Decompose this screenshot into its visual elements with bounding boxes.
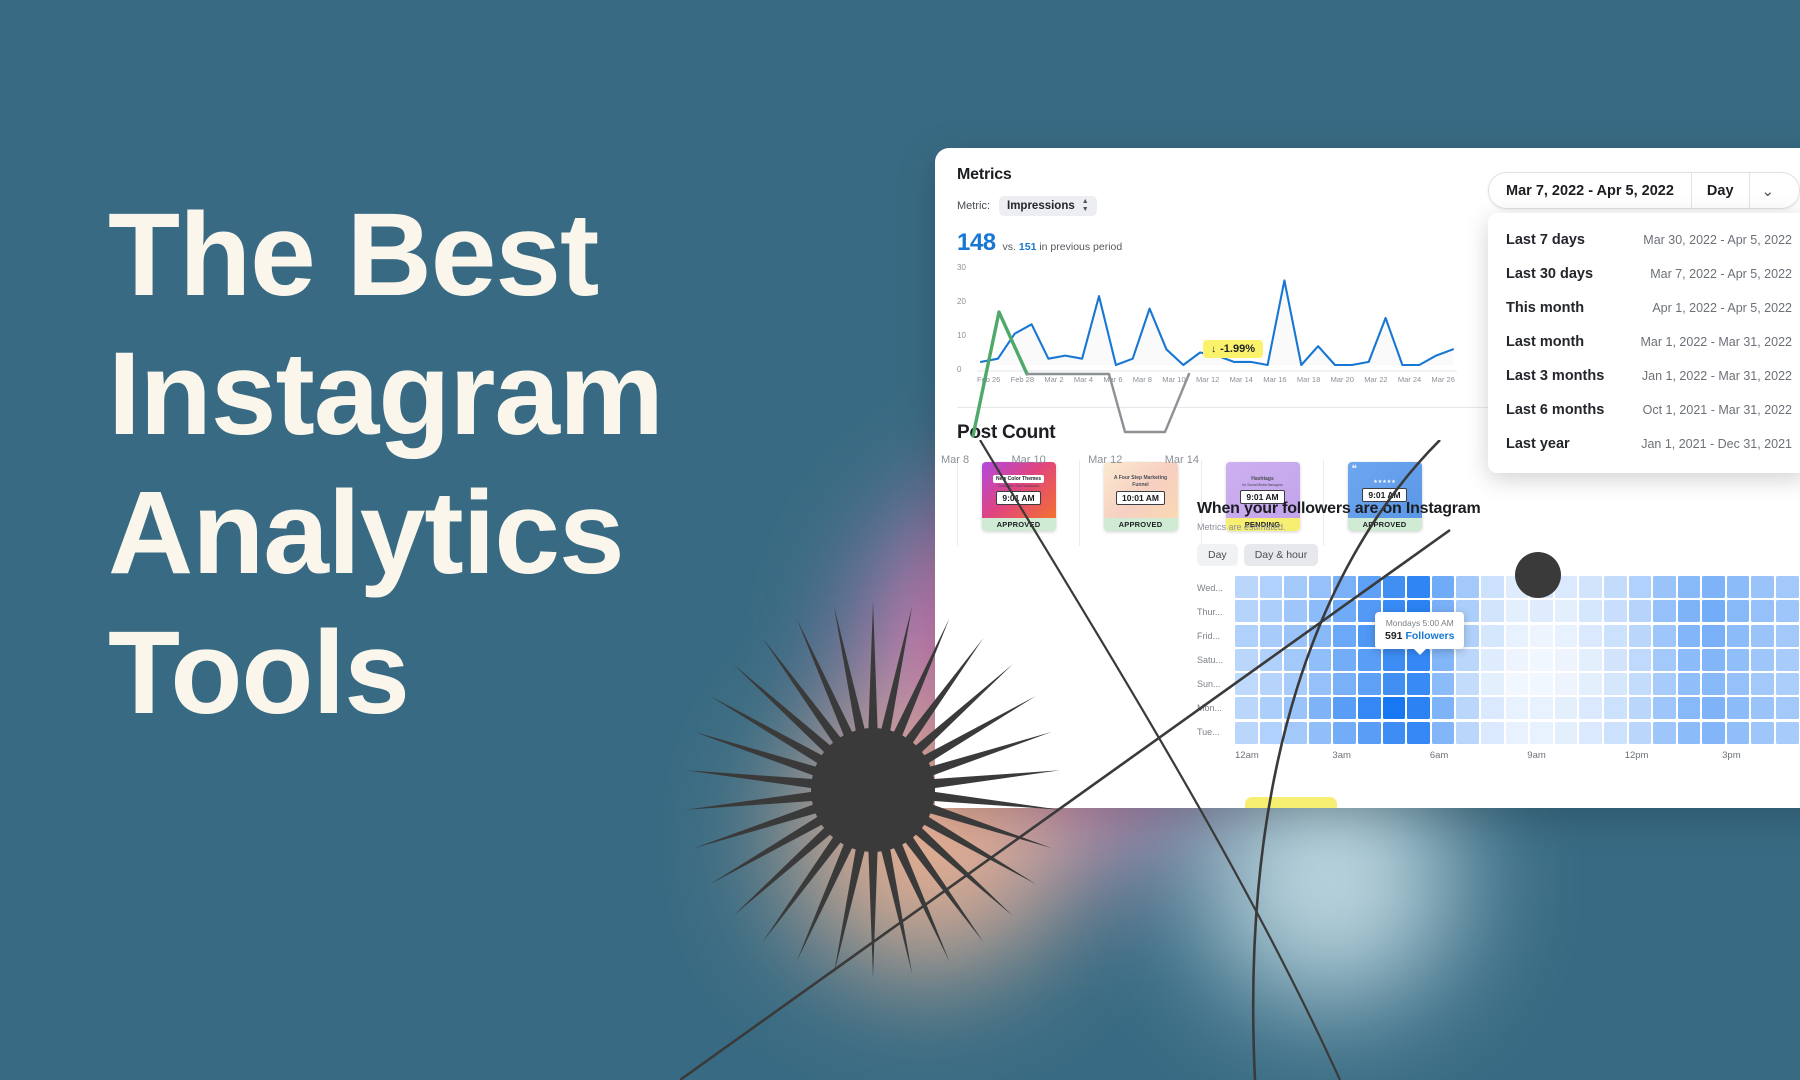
heatmap-cell[interactable]: [1333, 722, 1356, 744]
heatmap-cell[interactable]: [1407, 576, 1430, 598]
heatmap-cell[interactable]: [1506, 649, 1529, 671]
yellow-action-button[interactable]: [1245, 797, 1337, 808]
date-range-option-range: Mar 1, 2022 - Mar 31, 2022: [1641, 335, 1792, 349]
heatmap-cell[interactable]: [1235, 649, 1258, 671]
heatmap-cell[interactable]: [1702, 649, 1725, 671]
date-range-option[interactable]: Last 3 monthsJan 1, 2022 - Mar 31, 2022: [1488, 359, 1800, 393]
heatmap-cell[interactable]: [1751, 673, 1774, 695]
date-range-option-range: Mar 7, 2022 - Apr 5, 2022: [1650, 267, 1792, 281]
compare-value: 151: [1019, 241, 1037, 253]
starburst-spike: [927, 732, 1052, 777]
heatmap-cell[interactable]: [1604, 576, 1627, 598]
heatmap-cell[interactable]: [1333, 649, 1356, 671]
starburst-spike: [686, 770, 816, 788]
heatmap-cell[interactable]: [1235, 722, 1258, 744]
date-range-option-label: This month: [1506, 300, 1584, 316]
heatmap-cell[interactable]: [1678, 625, 1701, 647]
heatmap-cell[interactable]: [1776, 600, 1799, 622]
heatmap-cell[interactable]: [1432, 722, 1455, 744]
headline-line-1: The Best: [108, 186, 808, 325]
heatmap-cell[interactable]: [1235, 697, 1258, 719]
post-count-line-chart: 2 1 0 Mar 8Mar 10Mar 12Mar 14: [935, 304, 1213, 494]
date-range-option-range: Mar 30, 2022 - Apr 5, 2022: [1643, 233, 1792, 247]
heatmap-cell[interactable]: [1309, 625, 1332, 647]
post-count-x-axis: Mar 8Mar 10Mar 12Mar 14: [941, 454, 1199, 466]
starburst-spike: [930, 791, 1060, 809]
tooltip-count: 591: [1385, 630, 1403, 642]
heatmap-cell[interactable]: [1506, 625, 1529, 647]
metric-delta-value: -1.99%: [1220, 343, 1255, 355]
impressions-x-tick: Mar 26: [1432, 375, 1455, 384]
heatmap-cell[interactable]: [1653, 697, 1676, 719]
heatmap-cell[interactable]: [1456, 673, 1479, 695]
heatmap-cell[interactable]: [1727, 625, 1750, 647]
heatmap-cell[interactable]: [1456, 697, 1479, 719]
heatmap-cell[interactable]: [1432, 673, 1455, 695]
heatmap-cell[interactable]: [1555, 649, 1578, 671]
heatmap-cell[interactable]: [1432, 697, 1455, 719]
dark-circle-decoration: [1515, 552, 1561, 598]
heatmap-cell[interactable]: [1481, 576, 1504, 598]
impressions-x-tick: Mar 22: [1364, 375, 1387, 384]
heatmap-cell[interactable]: [1530, 600, 1553, 622]
post-count-x-tick: Mar 8: [941, 454, 969, 466]
quote-icon: ❝: [1352, 464, 1357, 475]
heatmap-cell[interactable]: [1309, 673, 1332, 695]
heatmap-cell[interactable]: [1333, 576, 1356, 598]
tooltip-value: 591 Followers: [1385, 630, 1454, 642]
starburst-spike: [694, 803, 819, 848]
date-range-option[interactable]: Last monthMar 1, 2022 - Mar 31, 2022: [1488, 325, 1800, 359]
heatmap-cell[interactable]: [1506, 722, 1529, 744]
heatmap-row-label: Mon...: [1197, 696, 1235, 720]
heatmap-cell[interactable]: [1653, 649, 1676, 671]
date-range-option-label: Last 6 months: [1506, 402, 1604, 418]
tooltip-unit: Followers: [1405, 630, 1454, 642]
heatmap-cell[interactable]: [1383, 576, 1406, 598]
heatmap-cell[interactable]: [1579, 600, 1602, 622]
heatmap-cell[interactable]: [1284, 722, 1307, 744]
heatmap-cell[interactable]: [1751, 625, 1774, 647]
heatmap-cell[interactable]: [1358, 649, 1381, 671]
heatmap-cell[interactable]: [1235, 576, 1258, 598]
heatmap-cell[interactable]: [1309, 649, 1332, 671]
post-heading: Hashtags: [1251, 476, 1274, 483]
heatmap-cell[interactable]: [1333, 625, 1356, 647]
heatmap: Wed...Thur...Frid...Satu...Sun...Mon...T…: [1197, 576, 1800, 744]
heatmap-x-tick: 3am: [1332, 750, 1429, 761]
heatmap-cell[interactable]: [1260, 625, 1283, 647]
heatmap-row-label: Frid...: [1197, 624, 1235, 648]
date-range-option[interactable]: This monthApr 1, 2022 - Apr 5, 2022: [1488, 291, 1800, 325]
post-count-x-tick: Mar 12: [1088, 454, 1122, 466]
heatmap-cell[interactable]: [1481, 600, 1504, 622]
heatmap-x-tick: 9am: [1527, 750, 1624, 761]
heatmap-cell[interactable]: [1407, 722, 1430, 744]
heatmap-cell[interactable]: [1260, 673, 1283, 695]
heatmap-cell[interactable]: [1727, 673, 1750, 695]
heatmap-cell[interactable]: [1579, 649, 1602, 671]
date-range-option-label: Last month: [1506, 334, 1584, 350]
heatmap-cell[interactable]: [1333, 673, 1356, 695]
heatmap-cell[interactable]: [1727, 600, 1750, 622]
heatmap-cell[interactable]: [1727, 649, 1750, 671]
heatmap-cell[interactable]: [1383, 697, 1406, 719]
post-count-x-tick: Mar 14: [1165, 454, 1199, 466]
heatmap-x-tick: 12am: [1235, 750, 1332, 761]
heatmap-cell[interactable]: [1653, 600, 1676, 622]
heatmap-cell[interactable]: [1629, 673, 1652, 695]
heatmap-cell[interactable]: [1678, 697, 1701, 719]
heatmap-cell[interactable]: [1530, 625, 1553, 647]
heatmap-cell[interactable]: [1604, 697, 1627, 719]
heatmap-cell[interactable]: [1333, 697, 1356, 719]
heatmap-cell[interactable]: [1702, 576, 1725, 598]
heatmap-cell[interactable]: [1284, 649, 1307, 671]
starburst-spike: [868, 602, 877, 732]
heatmap-cell[interactable]: [1456, 576, 1479, 598]
heatmap-cell[interactable]: [1653, 722, 1676, 744]
heatmap-cell[interactable]: [1358, 576, 1381, 598]
followers-activity-panel: When your followers are on Instagram Met…: [1197, 500, 1800, 761]
heatmap-cell[interactable]: [1432, 576, 1455, 598]
metric-delta-badge: ↓-1.99%: [1203, 340, 1263, 358]
heatmap-cell[interactable]: [1579, 576, 1602, 598]
heatmap-cell[interactable]: [1383, 673, 1406, 695]
starburst-spike: [694, 732, 819, 777]
heatmap-cell[interactable]: [1481, 625, 1504, 647]
heatmap-cell[interactable]: [1260, 722, 1283, 744]
heatmap-cell[interactable]: [1727, 697, 1750, 719]
post-count-x-tick: Mar 10: [1012, 454, 1046, 466]
heatmap-cell[interactable]: [1579, 625, 1602, 647]
post-subtext: for Social Media Managers: [1242, 483, 1282, 487]
impressions-x-tick: Mar 16: [1263, 375, 1286, 384]
date-range-option-label: Last 30 days: [1506, 266, 1593, 282]
heatmap-cell[interactable]: [1432, 649, 1455, 671]
heatmap-cell[interactable]: [1604, 649, 1627, 671]
starburst-spike: [868, 848, 877, 978]
date-range-dropdown: Last 7 daysMar 30, 2022 - Apr 5, 2022Las…: [1488, 213, 1800, 473]
heatmap-cell[interactable]: [1481, 673, 1504, 695]
heatmap-cell[interactable]: [1383, 649, 1406, 671]
heatmap-cell[interactable]: [1284, 697, 1307, 719]
heatmap-cell[interactable]: [1235, 600, 1258, 622]
heatmap-cell[interactable]: [1579, 697, 1602, 719]
heatmap-row-labels: Wed...Thur...Frid...Satu...Sun...Mon...T…: [1197, 576, 1235, 744]
heatmap-row-label: Tue...: [1197, 720, 1235, 744]
heatmap-cell[interactable]: [1579, 722, 1602, 744]
heatmap-cell[interactable]: [1260, 649, 1283, 671]
heatmap-cell[interactable]: [1555, 697, 1578, 719]
heatmap-cell[interactable]: [1309, 722, 1332, 744]
heatmap-cell[interactable]: [1629, 649, 1652, 671]
heatmap-row-label: Satu...: [1197, 648, 1235, 672]
heatmap-cell[interactable]: [1506, 697, 1529, 719]
date-range-option[interactable]: Last 7 daysMar 30, 2022 - Apr 5, 2022: [1488, 223, 1800, 257]
heatmap-cell[interactable]: [1260, 576, 1283, 598]
heatmap-cell[interactable]: [1506, 600, 1529, 622]
heatmap-cell[interactable]: [1358, 673, 1381, 695]
heatmap-cell[interactable]: [1751, 722, 1774, 744]
heatmap-cell[interactable]: [1776, 576, 1799, 598]
heatmap-cell[interactable]: [1456, 649, 1479, 671]
heatmap-cell[interactable]: [1604, 600, 1627, 622]
heatmap-cell[interactable]: [1751, 576, 1774, 598]
date-range-option-label: Last 7 days: [1506, 232, 1585, 248]
chevron-down-icon[interactable]: ⌄: [1749, 173, 1787, 208]
heatmap-cell[interactable]: [1309, 600, 1332, 622]
starburst-spike: [927, 803, 1052, 848]
granularity-button[interactable]: Day: [1691, 173, 1749, 208]
heatmap-x-tick: 12pm: [1625, 750, 1722, 761]
heatmap-cell[interactable]: [1678, 576, 1701, 598]
date-range-option[interactable]: Last yearJan 1, 2021 - Dec 31, 2021: [1488, 427, 1800, 461]
heatmap-cell[interactable]: [1604, 673, 1627, 695]
heatmap-cell[interactable]: [1629, 697, 1652, 719]
heatmap-cell[interactable]: [1530, 697, 1553, 719]
heatmap-cell[interactable]: [1530, 673, 1553, 695]
heatmap-cell[interactable]: [1333, 600, 1356, 622]
heatmap-cell[interactable]: [1678, 673, 1701, 695]
post-subtext: ★★★★★: [1373, 479, 1395, 485]
heatmap-cell[interactable]: [1702, 673, 1725, 695]
heatmap-cell[interactable]: [1555, 600, 1578, 622]
heatmap-cell[interactable]: [1358, 722, 1381, 744]
followers-tab-day[interactable]: Day: [1197, 544, 1238, 566]
date-range-option-range: Jan 1, 2022 - Mar 31, 2022: [1642, 369, 1792, 383]
y-tick-30: 30: [957, 263, 966, 272]
date-range-option-range: Oct 1, 2021 - Mar 31, 2022: [1643, 403, 1792, 417]
starburst-spike: [686, 791, 816, 809]
heatmap-cell[interactable]: [1702, 625, 1725, 647]
heatmap-cell[interactable]: [1309, 697, 1332, 719]
heatmap-cell[interactable]: [1260, 697, 1283, 719]
heatmap-cell[interactable]: [1727, 722, 1750, 744]
heatmap-cell[interactable]: [1702, 697, 1725, 719]
heatmap-cell[interactable]: [1481, 722, 1504, 744]
starburst-spike: [930, 770, 1060, 788]
heatmap-row-label: Thur...: [1197, 600, 1235, 624]
date-range-option[interactable]: Last 30 daysMar 7, 2022 - Apr 5, 2022: [1488, 257, 1800, 291]
heatmap-cell[interactable]: [1407, 673, 1430, 695]
arrow-down-icon: ↓: [1211, 344, 1216, 355]
metric-label: Metric:: [957, 200, 990, 212]
date-range-option[interactable]: Last 6 monthsOct 1, 2021 - Mar 31, 2022: [1488, 393, 1800, 427]
heatmap-cell[interactable]: [1284, 600, 1307, 622]
heatmap-cell[interactable]: [1555, 673, 1578, 695]
heatmap-cell[interactable]: [1530, 722, 1553, 744]
heatmap-cell[interactable]: [1235, 673, 1258, 695]
heatmap-tooltip: Mondays 5:00 AM 591 Followers: [1375, 612, 1464, 649]
impressions-x-tick: Mar 14: [1230, 375, 1253, 384]
heatmap-cell[interactable]: [1776, 673, 1799, 695]
heatmap-cell[interactable]: [1727, 576, 1750, 598]
heatmap-x-tick: 3pm: [1722, 750, 1800, 761]
heatmap-cell[interactable]: [1481, 649, 1504, 671]
heatmap-cell[interactable]: [1481, 697, 1504, 719]
headline-line-3: Analytics: [108, 464, 808, 603]
metric-comparison: vs. 151 in previous period: [1003, 241, 1123, 253]
heatmap-cell[interactable]: [1702, 600, 1725, 622]
heatmap-cell[interactable]: [1456, 722, 1479, 744]
heatmap-cell[interactable]: [1604, 625, 1627, 647]
heatmap-cell[interactable]: [1653, 576, 1676, 598]
heatmap-cell[interactable]: [1235, 625, 1258, 647]
heatmap-cell[interactable]: [1776, 649, 1799, 671]
followers-tabs: DayDay & hour: [1197, 544, 1800, 566]
impressions-x-tick: Mar 24: [1398, 375, 1421, 384]
heatmap-cell[interactable]: [1653, 673, 1676, 695]
impressions-x-tick: Mar 18: [1297, 375, 1320, 384]
heatmap-cell[interactable]: [1604, 722, 1627, 744]
metric-select-value: Impressions: [1007, 200, 1075, 212]
followers-tab-day-hour[interactable]: Day & hour: [1244, 544, 1319, 566]
heatmap-cell[interactable]: [1284, 673, 1307, 695]
heatmap-cell[interactable]: [1653, 625, 1676, 647]
date-range-option-range: Jan 1, 2021 - Dec 31, 2021: [1641, 437, 1792, 451]
post-status-badge: APPROVED: [982, 518, 1056, 531]
date-range-option-label: Last year: [1506, 436, 1570, 452]
heatmap-cell[interactable]: [1751, 649, 1774, 671]
heatmap-cell[interactable]: [1555, 625, 1578, 647]
heatmap-cell[interactable]: [1776, 697, 1799, 719]
date-range-control: Mar 7, 2022 - Apr 5, 2022 Day ⌄: [1488, 172, 1800, 209]
impressions-x-tick: Mar 20: [1331, 375, 1354, 384]
heatmap-cell[interactable]: [1506, 673, 1529, 695]
heatmap-cell[interactable]: [1776, 722, 1799, 744]
stepper-icon: ▲▼: [1082, 199, 1089, 213]
starburst-decoration: [683, 600, 1063, 980]
heatmap-cell[interactable]: [1678, 649, 1701, 671]
date-range-option-range: Apr 1, 2022 - Apr 5, 2022: [1652, 301, 1792, 315]
compare-prefix: vs.: [1003, 241, 1016, 253]
metric-select[interactable]: Impressions ▲▼: [999, 196, 1097, 216]
heatmap-cell[interactable]: [1678, 600, 1701, 622]
heatmap-row-label: Wed...: [1197, 576, 1235, 600]
tooltip-when: Mondays 5:00 AM: [1385, 618, 1454, 628]
followers-heading: When your followers are on Instagram: [1197, 500, 1800, 518]
heatmap-cell[interactable]: [1702, 722, 1725, 744]
heatmap-x-axis: 12am3am6am9am12pm3pm6pm: [1235, 750, 1800, 761]
heatmap-cell[interactable]: [1751, 600, 1774, 622]
heatmap-cell[interactable]: [1284, 625, 1307, 647]
headline-line-2: Instagram: [108, 325, 808, 464]
heatmap-x-tick: 6am: [1430, 750, 1527, 761]
heatmap-cell[interactable]: [1284, 576, 1307, 598]
heatmap-cell[interactable]: [1751, 697, 1774, 719]
heatmap-grid[interactable]: [1235, 576, 1800, 744]
date-range-button[interactable]: Mar 7, 2022 - Apr 5, 2022: [1489, 173, 1691, 208]
heatmap-cell[interactable]: [1555, 722, 1578, 744]
post-count-svg: [939, 304, 1219, 450]
post-status-badge: APPROVED: [1104, 518, 1178, 531]
heatmap-cell[interactable]: [1629, 576, 1652, 598]
heatmap-cell[interactable]: [1358, 697, 1381, 719]
heatmap-cell[interactable]: [1530, 649, 1553, 671]
heatmap-cell[interactable]: [1629, 625, 1652, 647]
heatmap-cell[interactable]: [1776, 625, 1799, 647]
heatmap-cell[interactable]: [1407, 697, 1430, 719]
followers-subtitle: Metrics are estimated.: [1197, 522, 1800, 532]
date-range-option-label: Last 3 months: [1506, 368, 1604, 384]
metric-value: 148: [957, 229, 996, 257]
compare-suffix: in previous period: [1039, 241, 1122, 253]
heatmap-cell[interactable]: [1678, 722, 1701, 744]
heatmap-row-label: Sun...: [1197, 672, 1235, 696]
heatmap-cell[interactable]: [1309, 576, 1332, 598]
heatmap-cell[interactable]: [1383, 722, 1406, 744]
heatmap-cell[interactable]: [1629, 722, 1652, 744]
heatmap-cell[interactable]: [1629, 600, 1652, 622]
heatmap-cell[interactable]: [1260, 600, 1283, 622]
heatmap-cell[interactable]: [1579, 673, 1602, 695]
